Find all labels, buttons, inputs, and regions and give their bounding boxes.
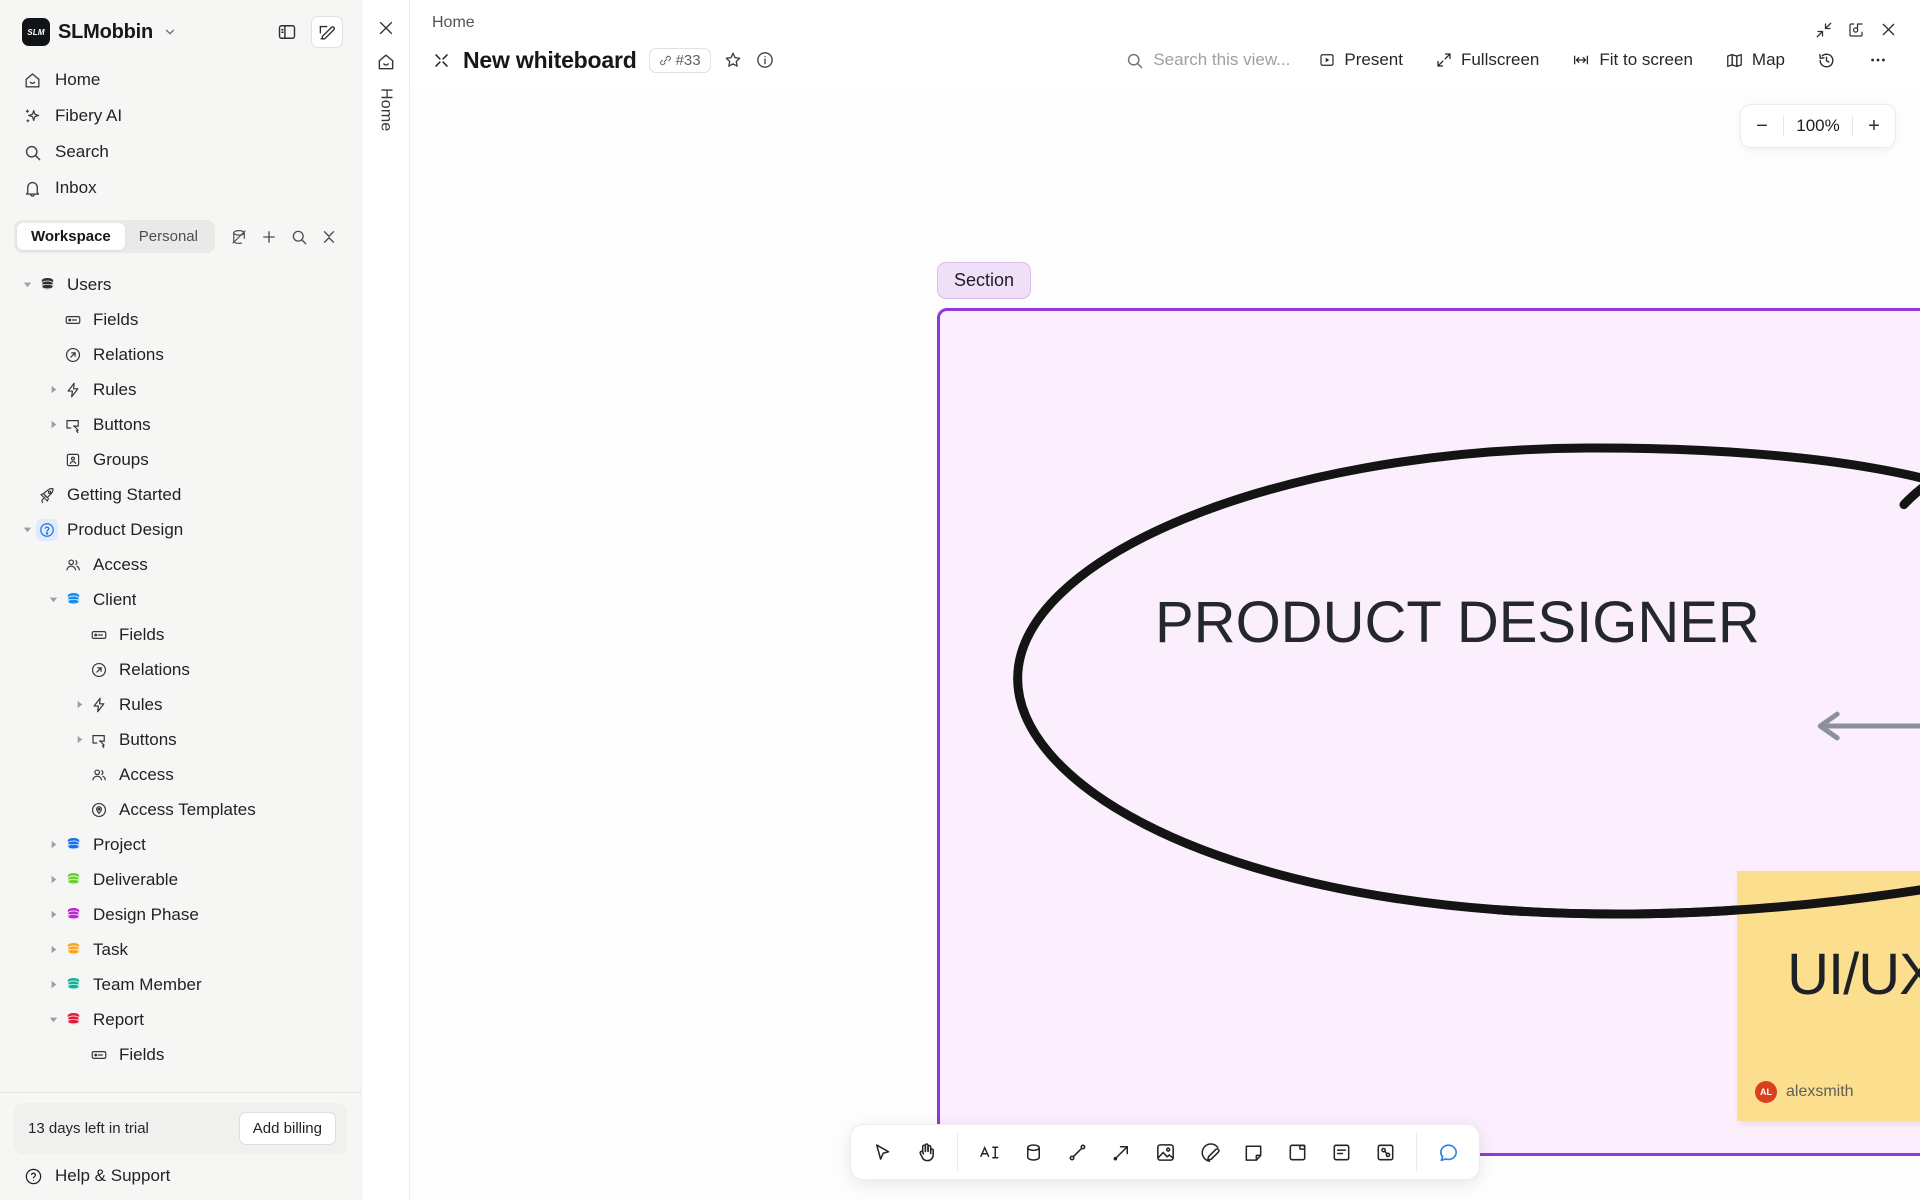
tree-item-team-member[interactable]: Team Member (10, 967, 351, 1002)
workspace-tree: UsersFieldsRelationsRulesButtonsGroupsGe… (0, 259, 361, 1092)
tree-item-access[interactable]: Access (10, 757, 351, 792)
tree-item-fields[interactable]: Fields (10, 617, 351, 652)
breadcrumb[interactable]: Home (432, 14, 1898, 32)
database-tool[interactable] (1012, 1131, 1054, 1173)
tree-item-label: Report (93, 1010, 144, 1030)
tree-item-deliverable[interactable]: Deliverable (10, 862, 351, 897)
tree-item-label: Rules (93, 380, 136, 400)
chevron-right-icon[interactable] (70, 696, 88, 714)
more-horizontal-icon (1868, 50, 1888, 70)
sticky-note-author: AL alexsmith (1755, 1081, 1854, 1103)
tree-item-label: Client (93, 590, 136, 610)
tab-workspace[interactable]: Workspace (17, 223, 125, 250)
question-badge-icon (36, 519, 58, 541)
db-stack-icon (62, 939, 84, 961)
help-and-support-item[interactable]: Help & Support (14, 1154, 347, 1188)
chevron-right-icon[interactable] (44, 906, 62, 924)
app-root: SLM SLMobbin Home (0, 0, 1920, 1200)
tree-item-task[interactable]: Task (10, 932, 351, 967)
tree-item-relations[interactable]: Relations (10, 652, 351, 687)
plus-icon[interactable] (255, 223, 283, 251)
db-stack-icon (62, 904, 84, 926)
workspace-logo: SLM (22, 18, 50, 46)
view-header: Home New whiteboard (410, 0, 1920, 90)
whiteboard-icon (432, 51, 451, 70)
avatar: AL (1755, 1081, 1777, 1103)
tree-item-label: Access (119, 765, 174, 785)
title-row: New whiteboard #33 (432, 44, 1898, 90)
fit-to-screen-button[interactable]: Fit to screen (1561, 44, 1703, 76)
present-button[interactable]: Present (1308, 44, 1413, 76)
tree-item-groups[interactable]: Groups (10, 442, 351, 477)
tree-item-label: Fields (119, 625, 164, 645)
info-icon[interactable] (755, 50, 775, 70)
tree-item-label: Product Design (67, 520, 183, 540)
rail-label[interactable]: Home (377, 88, 395, 131)
whiteboard-toolbar (850, 1124, 1480, 1180)
tree-item-report[interactable]: Report (10, 1002, 351, 1037)
tree-item-label: Fields (93, 310, 138, 330)
map-button[interactable]: Map (1715, 44, 1795, 76)
database-off-icon[interactable] (225, 223, 253, 251)
sidebar-item-label: Home (55, 70, 100, 90)
comment-tool[interactable] (1427, 1131, 1469, 1173)
fullscreen-button[interactable]: Fullscreen (1425, 44, 1549, 76)
chevron-down-icon[interactable] (18, 521, 36, 539)
tree-item-fields[interactable]: Fields (10, 1037, 351, 1072)
chevron-right-icon[interactable] (44, 941, 62, 959)
link-icon (659, 54, 672, 67)
tree-item-label: Buttons (93, 415, 151, 435)
page-title[interactable]: New whiteboard (463, 47, 637, 74)
chevron-right-icon[interactable] (70, 731, 88, 749)
sidebar-item-fibery-ai[interactable]: Fibery AI (12, 98, 349, 134)
collapse-all-icon[interactable] (315, 223, 343, 251)
rules-icon (62, 379, 84, 401)
compose-icon[interactable] (311, 16, 343, 48)
close-icon[interactable] (376, 18, 396, 38)
sidebar-item-home[interactable]: Home (12, 62, 349, 98)
tree-item-label: Deliverable (93, 870, 178, 890)
tree-item-buttons[interactable]: Buttons (10, 407, 351, 442)
map-icon (1725, 51, 1744, 70)
tree-item-label: Groups (93, 450, 149, 470)
arrow-tool[interactable] (1100, 1131, 1142, 1173)
workspace-header: SLM SLMobbin (0, 0, 361, 58)
freehand-hook (1904, 439, 1920, 699)
fullscreen-icon (1435, 51, 1453, 69)
db-stack-icon (62, 834, 84, 856)
tree-item-label: Buttons (119, 730, 177, 750)
frame-tool[interactable] (1276, 1131, 1318, 1173)
sidebar-item-label: Search (55, 142, 109, 162)
tree-item-buttons[interactable]: Buttons (10, 722, 351, 757)
fit-to-screen-label: Fit to screen (1599, 50, 1693, 70)
tree-item-project[interactable]: Project (10, 827, 351, 862)
search-placeholder: Search this view... (1153, 50, 1290, 70)
tree-item-design-phase[interactable]: Design Phase (10, 897, 351, 932)
zoom-control: − 100% + (1740, 104, 1896, 148)
search-input[interactable]: Search this view... (1125, 50, 1290, 70)
bell-icon (22, 178, 42, 198)
section-frame[interactable]: PRODUCT DESIGNER UI/UX AL alexsmith (937, 308, 1920, 1156)
db-stack-icon (62, 974, 84, 996)
chevron-right-icon[interactable] (44, 976, 62, 994)
tree-item-label: Relations (119, 660, 190, 680)
sidebar-footer: 13 days left in trial Add billing Help &… (0, 1092, 361, 1200)
fullscreen-label: Fullscreen (1461, 50, 1539, 70)
relations-icon (88, 659, 110, 681)
chevron-down-icon[interactable] (18, 276, 36, 294)
chevron-right-icon[interactable] (44, 381, 62, 399)
tree-item-fields[interactable]: Fields (10, 302, 351, 337)
pen-tool[interactable] (1188, 1131, 1230, 1173)
main-panel: Home New whiteboard (409, 0, 1920, 1200)
tree-item-label: Task (93, 940, 128, 960)
chevron-down-icon[interactable] (44, 591, 62, 609)
tree-item-access[interactable]: Access (10, 547, 351, 582)
tree-item-rules[interactable]: Rules (10, 687, 351, 722)
tree-item-relations[interactable]: Relations (10, 337, 351, 372)
sticky-note-text: UI/UX (1737, 941, 1920, 1008)
embed-tool[interactable] (1364, 1131, 1406, 1173)
tree-item-client[interactable]: Client (10, 582, 351, 617)
collapse-icon[interactable] (1815, 21, 1833, 39)
history-icon (1817, 51, 1836, 70)
add-billing-button[interactable]: Add billing (239, 1112, 336, 1145)
close-icon[interactable] (1879, 20, 1898, 39)
select-tool[interactable] (861, 1131, 903, 1173)
tree-item-label: Getting Started (67, 485, 181, 505)
ellipse-text-label[interactable]: PRODUCT DESIGNER (1155, 589, 1760, 656)
image-tool[interactable] (1144, 1131, 1186, 1173)
search-icon (22, 142, 42, 162)
more-options-button[interactable] (1858, 44, 1898, 76)
open-in-panel-icon[interactable] (1847, 21, 1865, 39)
people-icon (88, 764, 110, 786)
tree-item-label: Relations (93, 345, 164, 365)
window-controls (1815, 20, 1898, 39)
home-icon[interactable] (376, 52, 396, 72)
sidebar: SLM SLMobbin Home (0, 0, 361, 1200)
chevron-down-icon[interactable] (163, 25, 177, 39)
whiteboard-canvas[interactable]: − 100% + Section (410, 90, 1920, 1200)
collapsed-view-rail: Home (361, 0, 409, 1200)
zoom-in-button[interactable]: + (1853, 105, 1895, 147)
hand-tool[interactable] (905, 1131, 947, 1173)
help-label: Help & Support (55, 1166, 170, 1186)
tree-item-product-design[interactable]: Product Design (10, 512, 351, 547)
trial-text: 13 days left in trial (28, 1120, 149, 1137)
sidebar-item-label: Fibery AI (55, 106, 122, 126)
chevron-right-icon[interactable] (44, 871, 62, 889)
home-icon (22, 70, 42, 90)
search-icon[interactable] (285, 223, 313, 251)
chevron-right-icon[interactable] (44, 416, 62, 434)
tree-item-label: Project (93, 835, 146, 855)
trial-banner: 13 days left in trial Add billing (14, 1103, 347, 1154)
tree-item-label: Access (93, 555, 148, 575)
star-icon[interactable] (723, 50, 743, 70)
author-name: alexsmith (1786, 1083, 1854, 1101)
zoom-out-button[interactable]: − (1741, 105, 1783, 147)
sidebar-item-label: Inbox (55, 178, 97, 198)
present-icon (1318, 51, 1336, 69)
zoom-level: 100% (1784, 116, 1852, 136)
line-tool[interactable] (1056, 1131, 1098, 1173)
tree-item-label: Users (67, 275, 111, 295)
db-stack-icon (62, 1009, 84, 1031)
card-tool[interactable] (1320, 1131, 1362, 1173)
connector-arrow (1820, 714, 1920, 738)
rules-icon (88, 694, 110, 716)
relations-icon (62, 344, 84, 366)
tab-personal[interactable]: Personal (125, 223, 212, 250)
groups-icon (62, 449, 84, 471)
tree-item-label: Rules (119, 695, 162, 715)
people-icon (62, 554, 84, 576)
workspace-name[interactable]: SLMobbin (58, 21, 153, 44)
tree-item-users[interactable]: Users (10, 267, 351, 302)
sidebar-item-search[interactable]: Search (12, 134, 349, 170)
tree-item-label: Design Phase (93, 905, 199, 925)
present-label: Present (1344, 50, 1403, 70)
buttons-icon (62, 414, 84, 436)
sticky-note-tool[interactable] (1232, 1131, 1274, 1173)
tree-item-rules[interactable]: Rules (10, 372, 351, 407)
fields-icon (62, 309, 84, 331)
chevron-down-icon[interactable] (44, 1011, 62, 1029)
section-label[interactable]: Section (937, 262, 1031, 299)
fit-to-screen-icon (1571, 51, 1591, 69)
tree-item-access-templates[interactable]: Access Templates (10, 792, 351, 827)
db-stack-icon (62, 589, 84, 611)
rocket-icon (36, 484, 58, 506)
sidebar-item-inbox[interactable]: Inbox (12, 170, 349, 206)
entity-id-chip[interactable]: #33 (649, 48, 711, 73)
question-circle-icon (24, 1167, 43, 1186)
pin-circle-icon (88, 799, 110, 821)
tree-item-label: Access Templates (119, 800, 256, 820)
db-stack-icon (36, 274, 58, 296)
text-tool[interactable] (968, 1131, 1010, 1173)
primary-nav: Home Fibery AI Search Inbox (0, 58, 361, 206)
search-icon (1125, 51, 1144, 70)
toggle-sidebar-icon[interactable] (271, 16, 303, 48)
tree-item-getting-started[interactable]: Getting Started (10, 477, 351, 512)
tree-item-label: Team Member (93, 975, 202, 995)
workspace-tabs: Workspace Personal (0, 206, 361, 259)
buttons-icon (88, 729, 110, 751)
fields-icon (88, 1044, 110, 1066)
history-button[interactable] (1807, 45, 1846, 76)
tree-item-label: Fields (119, 1045, 164, 1065)
db-stack-icon (62, 869, 84, 891)
entity-id-text: #33 (676, 52, 701, 69)
map-label: Map (1752, 50, 1785, 70)
sparkle-icon (22, 106, 42, 126)
fields-icon (88, 624, 110, 646)
sticky-note[interactable]: UI/UX AL alexsmith (1737, 871, 1920, 1121)
chevron-right-icon[interactable] (44, 836, 62, 854)
